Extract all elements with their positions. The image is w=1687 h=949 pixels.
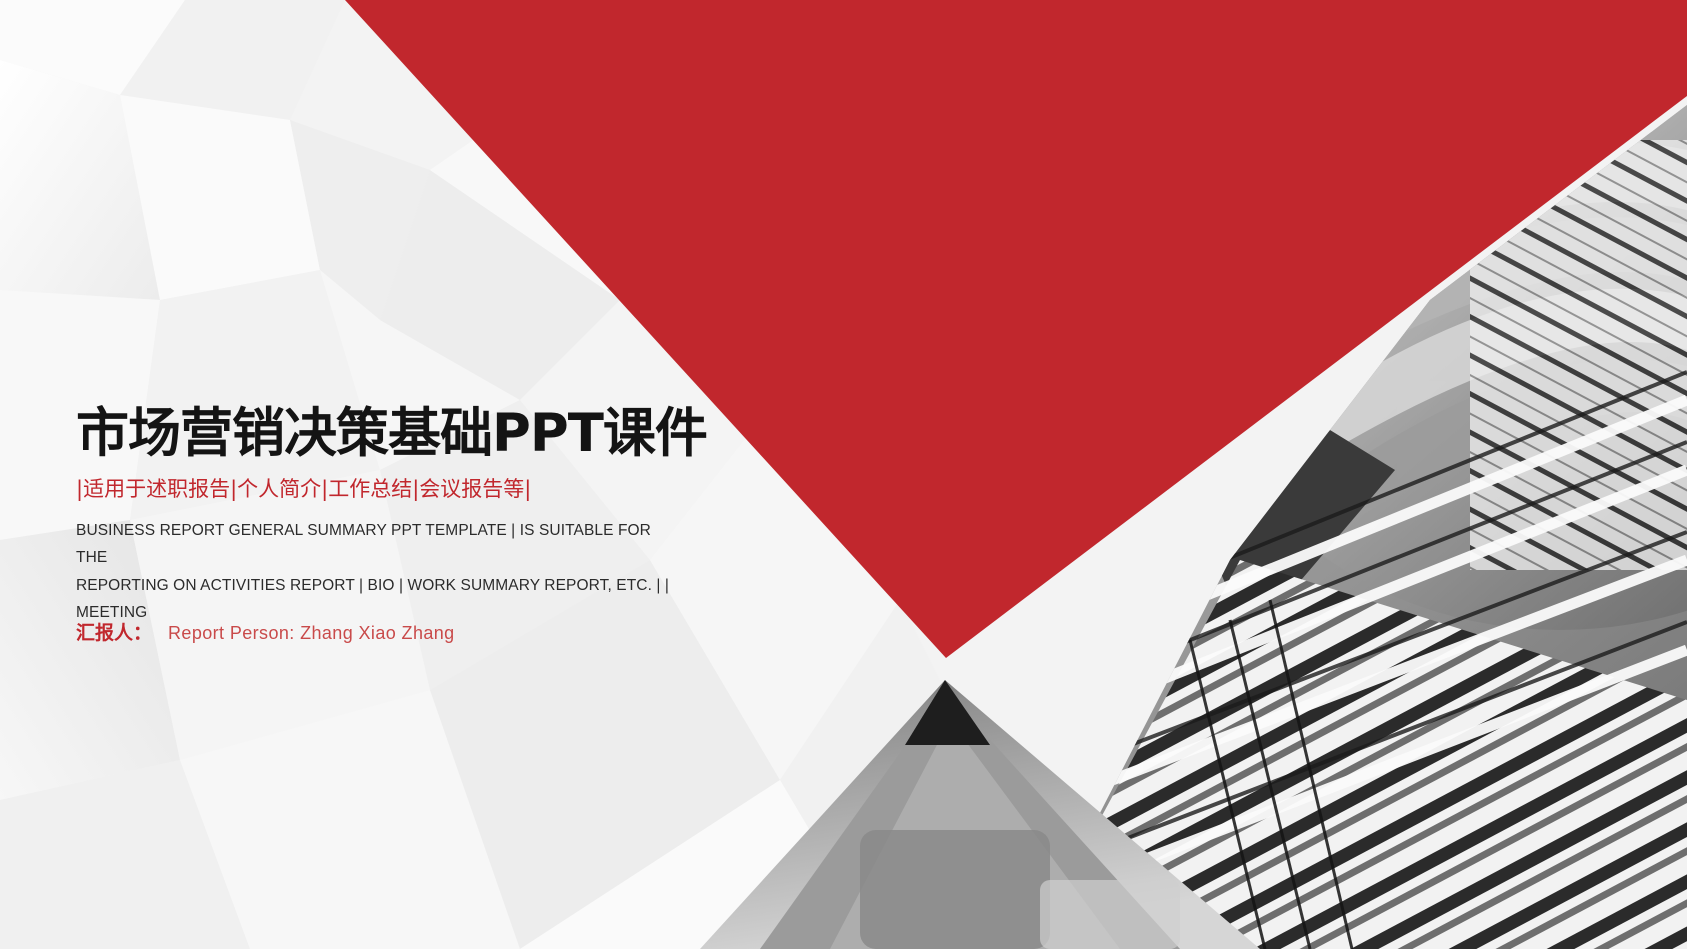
subtitle-english: BUSINESS REPORT GENERAL SUMMARY PPT TEMP… xyxy=(76,517,676,626)
reporter-line: 汇报人： Report Person: Zhang Xiao Zhang xyxy=(76,618,455,645)
reporter-label: 汇报人： xyxy=(76,618,152,645)
headline-block: 市场营销决策基础PPT课件 |适用于述职报告|个人简介|工作总结|会议报告等| … xyxy=(76,404,756,626)
subtitle-english-line1: BUSINESS REPORT GENERAL SUMMARY PPT TEMP… xyxy=(76,517,676,571)
subtitle-chinese: |适用于述职报告|个人简介|工作总结|会议报告等| xyxy=(76,473,756,503)
presentation-cover-slide: 市场营销决策基础PPT课件 |适用于述职报告|个人简介|工作总结|会议报告等| … xyxy=(0,0,1687,949)
page-title: 市场营销决策基础PPT课件 xyxy=(76,404,756,463)
reporter-name: Report Person: Zhang Xiao Zhang xyxy=(158,623,455,644)
